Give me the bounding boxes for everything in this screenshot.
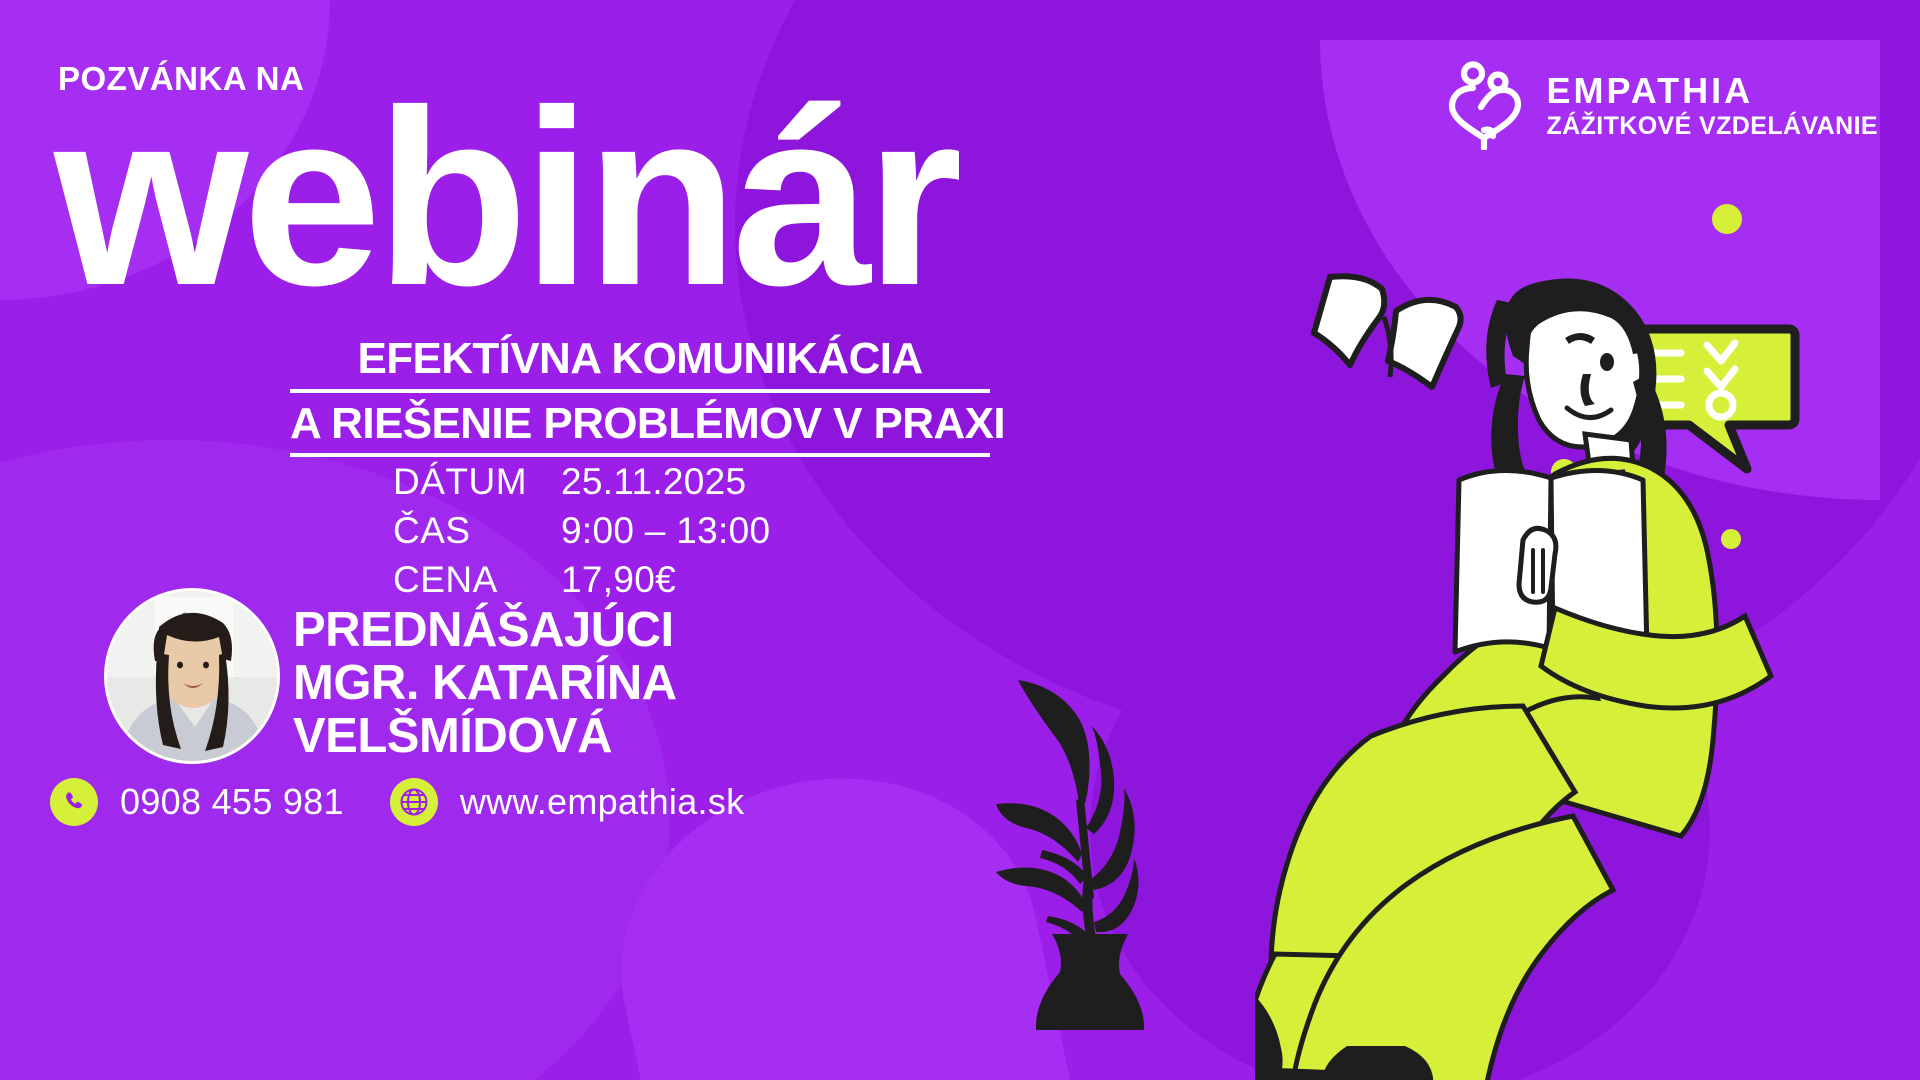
detail-row: DÁTUM 25.11.2025 — [393, 458, 770, 507]
speaker-title-name: MGR. KATARÍNA — [293, 657, 677, 710]
detail-value-price: 17,90€ — [561, 556, 676, 605]
potted-plant-icon — [990, 650, 1180, 1030]
lime-dot — [1551, 459, 1577, 485]
open-book-icon — [1300, 265, 1500, 415]
phone-contact[interactable]: 0908 455 981 — [50, 778, 344, 826]
lime-dot — [1712, 204, 1742, 234]
phone-icon — [50, 778, 98, 826]
detail-value-date: 25.11.2025 — [561, 458, 746, 507]
speaker-block: PREDNÁŠAJÚCI MGR. KATARÍNA VELŠMÍDOVÁ — [293, 604, 677, 763]
brand-text: EMPATHIA ZÁŽITKOVÉ VZDELÁVANIE — [1546, 72, 1878, 142]
heart-people-icon — [1448, 58, 1524, 155]
subtitle: EFEKTÍVNA KOMUNIKÁCIA A RIEŠENIE PROBLÉM… — [290, 332, 990, 461]
detail-row: ČAS 9:00 – 13:00 — [393, 507, 770, 556]
subtitle-line-1: EFEKTÍVNA KOMUNIKÁCIA — [290, 332, 990, 393]
footer-contacts: 0908 455 981 www.empathia.sk — [50, 778, 744, 826]
event-details: DÁTUM 25.11.2025 ČAS 9:00 – 13:00 CENA 1… — [393, 458, 770, 604]
detail-row: CENA 17,90€ — [393, 556, 770, 605]
detail-label-date: DÁTUM — [393, 458, 561, 507]
page-title: webinár — [54, 88, 957, 308]
speaker-surname: VELŠMÍDOVÁ — [293, 710, 677, 763]
woman-reading-illustration — [1255, 278, 1920, 1080]
detail-value-time: 9:00 – 13:00 — [561, 507, 770, 556]
speaker-heading: PREDNÁŠAJÚCI — [293, 604, 677, 657]
website-contact[interactable]: www.empathia.sk — [390, 778, 745, 826]
detail-label-time: ČAS — [393, 507, 561, 556]
webinar-poster: POZVÁNKA NA webinár EFEKTÍVNA KOMUNIKÁCI… — [0, 0, 1920, 1080]
brand-logo: EMPATHIA ZÁŽITKOVÉ VZDELÁVANIE — [1448, 58, 1878, 155]
brand-tagline: ZÁŽITKOVÉ VZDELÁVANIE — [1546, 111, 1878, 141]
avatar: PATH KOVÉ VZDELÁVANIE — [104, 588, 280, 764]
subtitle-line-2: A RIEŠENIE PROBLÉMOV V PRAXI — [290, 397, 990, 458]
brand-name: EMPATHIA — [1546, 70, 1753, 111]
detail-label-price: CENA — [393, 556, 561, 605]
background-blob — [1090, 560, 1710, 1080]
lime-dot — [1721, 529, 1741, 549]
website-url: www.empathia.sk — [460, 781, 745, 823]
speech-bubble-checklist-icon — [1575, 315, 1845, 480]
phone-number: 0908 455 981 — [120, 781, 344, 823]
globe-icon — [390, 778, 438, 826]
